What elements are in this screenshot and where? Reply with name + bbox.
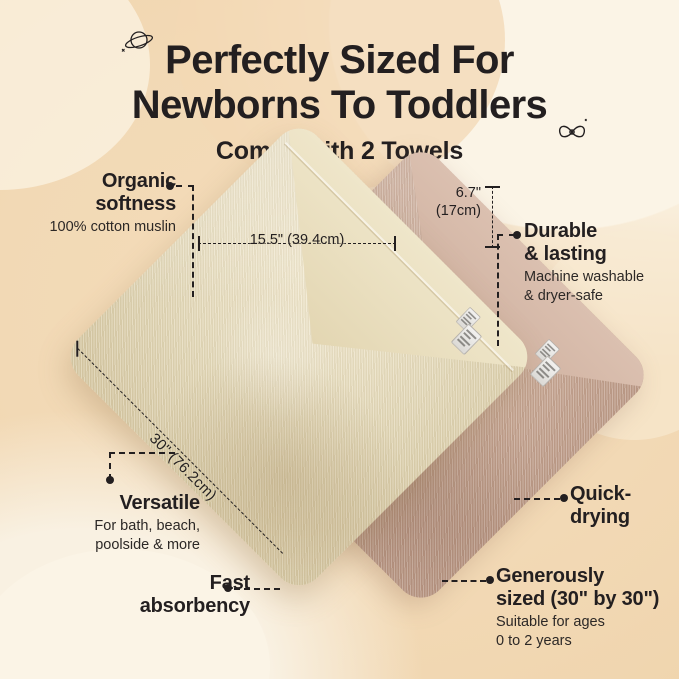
leader-line-versatile-h: [109, 452, 175, 454]
annotation-generous-desc: Suitable for ages 0 to 2 years: [496, 613, 676, 651]
product-infographic: Perfectly Sized For Newborns To Toddlers…: [0, 0, 679, 679]
annotation-versatile-desc: For bath, beach, poolside & more: [10, 517, 200, 555]
leader-line-generous: [442, 580, 486, 582]
annotation-durable-desc: Machine washable & dryer-safe: [524, 268, 676, 306]
annotation-quick-title: Quick- drying: [570, 483, 679, 529]
annotation-versatile-title: Versatile: [10, 492, 200, 515]
annotation-organic-desc: 100% cotton muslin: [6, 218, 176, 237]
leader-dot-quick: [560, 494, 568, 502]
leader-dot-durable: [513, 231, 521, 239]
annotation-durable-title: Durable & lasting: [524, 220, 676, 266]
dimension-hood-width: 15.5" (39.4cm): [198, 236, 396, 252]
annotation-durable-lasting: Durable & lasting Machine washable & dry…: [524, 220, 676, 306]
annotation-fast-absorbency: Fast absorbency: [80, 572, 250, 618]
annotation-quick-drying: Quick- drying: [570, 483, 679, 529]
dimension-hood-depth-label: 6.7" (17cm): [436, 184, 481, 220]
leader-line-quick: [514, 498, 560, 500]
leader-dot-generous: [486, 576, 494, 584]
annotation-versatile: Versatile For bath, beach, poolside & mo…: [10, 492, 200, 555]
annotation-generously-sized: Generously sized (30" by 30") Suitable f…: [496, 565, 676, 651]
leader-line-durable-v: [497, 234, 499, 346]
leader-line-organic-v: [192, 185, 194, 297]
annotation-organic-softness: Organic softness 100% cotton muslin: [6, 170, 176, 237]
leader-dot-versatile: [106, 476, 114, 484]
annotation-fast-title: Fast absorbency: [80, 572, 250, 618]
annotation-generous-title: Generously sized (30" by 30"): [496, 565, 676, 611]
dimension-hood-width-label: 15.5" (39.4cm): [247, 232, 348, 248]
annotation-organic-title: Organic softness: [6, 170, 176, 216]
